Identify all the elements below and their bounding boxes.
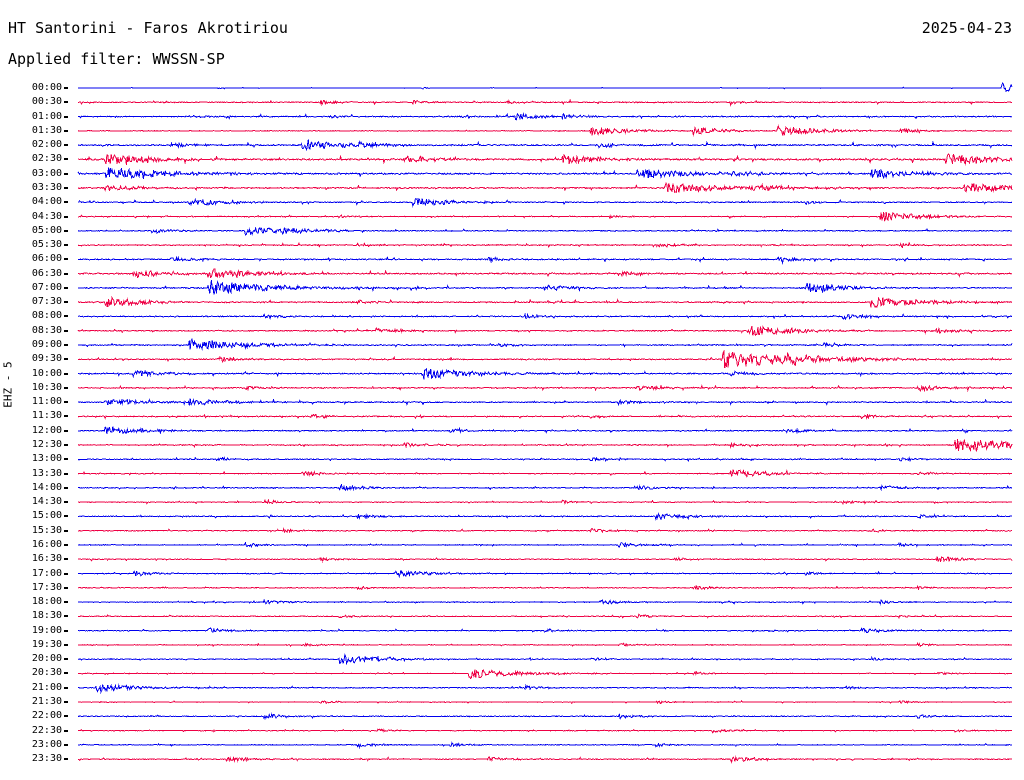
trace-line [78, 426, 1012, 433]
trace-line [78, 514, 1012, 520]
trace-line [78, 351, 1012, 368]
trace-line [78, 154, 1012, 165]
trace-line [78, 685, 1012, 693]
trace-line [78, 570, 1012, 576]
trace-line [78, 543, 1012, 547]
seismic-traces [0, 78, 1024, 778]
trace-line [78, 614, 1012, 617]
trace-line [78, 714, 1012, 718]
trace-line [78, 243, 1012, 247]
trace-line [78, 83, 1012, 91]
trace-line [78, 168, 1012, 180]
trace-line [78, 280, 1012, 294]
trace-line [78, 326, 1012, 335]
trace-line [78, 557, 1012, 562]
page-title: HT Santorini - Faros Akrotiriou [8, 19, 288, 37]
trace-line [78, 298, 1012, 308]
helicorder-plot: 00:0000:3001:0001:3002:0002:3003:0003:30… [0, 78, 1024, 778]
applied-filter-label: Applied filter: WWSSN-SP [8, 50, 225, 68]
trace-line [78, 386, 1012, 391]
trace-line [78, 655, 1012, 664]
trace-line [78, 183, 1012, 192]
trace-line [78, 339, 1012, 349]
record-date: 2025-04-23 [922, 19, 1012, 37]
trace-line [78, 269, 1012, 278]
trace-line [78, 470, 1012, 477]
trace-line [78, 485, 1012, 491]
trace-line [78, 314, 1012, 319]
trace-line [78, 257, 1012, 263]
trace-line [78, 458, 1012, 461]
trace-line [78, 743, 1012, 747]
trace-line [78, 586, 1012, 590]
trace-line [78, 199, 1012, 206]
trace-line [78, 600, 1012, 604]
trace-line [78, 114, 1012, 120]
seismograph-page: HT Santorini - Faros Akrotiriou 2025-04-… [0, 0, 1024, 780]
trace-line [78, 529, 1012, 532]
trace-line [78, 729, 1012, 733]
trace-line [78, 227, 1012, 234]
trace-line [78, 439, 1012, 451]
trace-line [78, 628, 1012, 632]
trace-line [78, 369, 1012, 379]
trace-line [78, 140, 1012, 150]
trace-line [78, 100, 1012, 105]
trace-line [78, 398, 1012, 405]
trace-line [78, 669, 1012, 678]
trace-line [78, 415, 1012, 419]
trace-line [78, 500, 1012, 504]
trace-line [78, 701, 1012, 704]
trace-line [78, 212, 1012, 220]
trace-line [78, 643, 1012, 646]
trace-line [78, 757, 1012, 762]
trace-line [78, 126, 1012, 135]
